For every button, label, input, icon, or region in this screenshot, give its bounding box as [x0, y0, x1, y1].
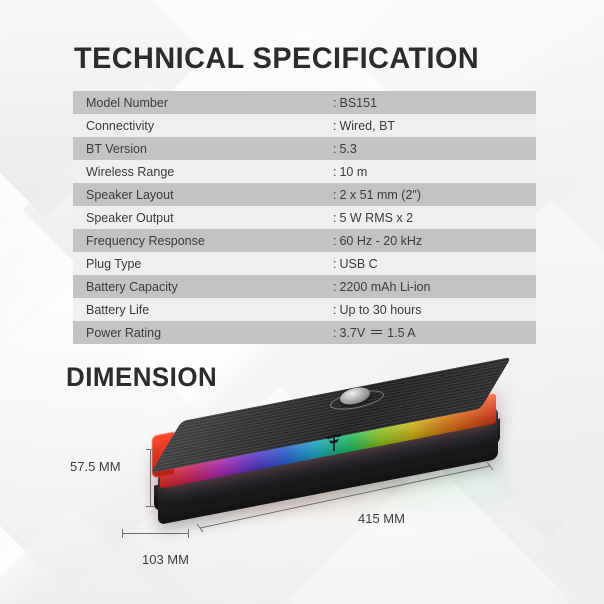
spec-value: :2200 mAh Li-ion	[333, 280, 536, 294]
spec-colon: :	[333, 188, 336, 202]
spec-row: Speaker Output:5 W RMS x 2	[73, 206, 536, 229]
spec-row: Speaker Layout:2 x 51 mm (2")	[73, 183, 536, 206]
spec-row: Model Number:BS151	[73, 91, 536, 114]
page-canvas: TECHNICAL SPECIFICATION Model Number:BS1…	[0, 0, 604, 604]
spec-label: Power Rating	[73, 326, 333, 340]
spec-value: :2 x 51 mm (2")	[333, 188, 536, 202]
spec-label: BT Version	[73, 142, 333, 156]
spec-colon: :	[333, 96, 336, 110]
spec-colon: :	[333, 280, 336, 294]
technical-specification-title: TECHNICAL SPECIFICATION	[74, 42, 479, 76]
spec-label: Battery Life	[73, 303, 333, 317]
spec-value: :10 m	[333, 165, 536, 179]
spec-colon: :	[333, 303, 336, 317]
spec-row: Connectivity:Wired, BT	[73, 114, 536, 137]
height-dimension-label: 57.5 MM	[70, 459, 121, 474]
spec-row: BT Version:5.3	[73, 137, 536, 160]
spec-colon: :	[333, 142, 336, 156]
spec-colon: :	[333, 119, 336, 133]
spec-value: :BS151	[333, 96, 536, 110]
spec-row: Battery Life:Up to 30 hours	[73, 298, 536, 321]
spec-row: Battery Capacity:2200 mAh Li-ion	[73, 275, 536, 298]
width-measure-line	[122, 533, 189, 534]
spec-colon: :	[333, 326, 336, 340]
spec-value: :3.7V 1.5 A	[333, 326, 536, 340]
spec-label: Speaker Output	[73, 211, 333, 225]
spec-label: Connectivity	[73, 119, 333, 133]
spec-label: Plug Type	[73, 257, 333, 271]
spec-row: Power Rating:3.7V 1.5 A	[73, 321, 536, 344]
spec-value: :5.3	[333, 142, 536, 156]
spec-label: Battery Capacity	[73, 280, 333, 294]
height-measure-line	[150, 449, 151, 507]
spec-colon: :	[333, 234, 336, 248]
spec-colon: :	[333, 211, 336, 225]
length-dimension-label: 415 MM	[358, 511, 405, 526]
spec-colon: :	[333, 165, 336, 179]
spec-value: :Wired, BT	[333, 119, 536, 133]
length-measure-line	[194, 462, 494, 532]
spec-label: Speaker Layout	[73, 188, 333, 202]
spec-row: Plug Type:USB C	[73, 252, 536, 275]
spec-value: :5 W RMS x 2	[333, 211, 536, 225]
spec-row: Frequency Response:60 Hz - 20 kHz	[73, 229, 536, 252]
spec-label: Model Number	[73, 96, 333, 110]
specification-table: Model Number:BS151Connectivity:Wired, BT…	[73, 91, 536, 344]
spec-value: :Up to 30 hours	[333, 303, 536, 317]
spec-colon: :	[333, 257, 336, 271]
width-dimension-label: 103 MM	[142, 552, 189, 567]
spec-value: :USB C	[333, 257, 536, 271]
spec-value: :60 Hz - 20 kHz	[333, 234, 536, 248]
spec-label: Wireless Range	[73, 165, 333, 179]
dc-power-icon	[371, 328, 382, 336]
spec-label: Frequency Response	[73, 234, 333, 248]
spec-row: Wireless Range:10 m	[73, 160, 536, 183]
